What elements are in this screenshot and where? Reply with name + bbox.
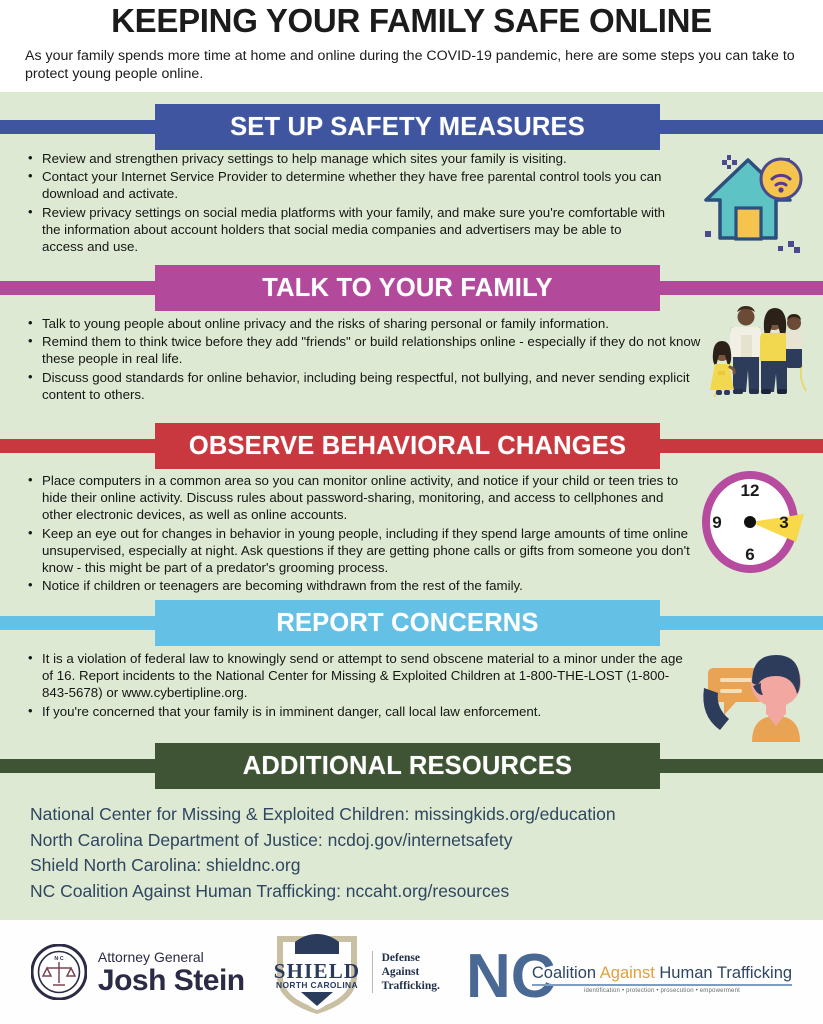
page-title: KEEPING YOUR FAMILY SAFE ONLINE — [0, 2, 823, 40]
family-group-icon — [706, 305, 816, 405]
section-header-report-concerns: REPORT CONCERNS — [0, 600, 823, 646]
resource-link[interactable]: National Center for Missing & Exploited … — [30, 802, 730, 828]
section-header-talk-to-your-family: TALK TO YOUR FAMILY — [0, 265, 823, 311]
shield-tagline-line-3: Trafficking. — [382, 979, 440, 993]
shield-state: NORTH CAROLINA — [276, 980, 358, 990]
shield-tagline-line-2: Against — [382, 965, 440, 979]
band-block-1: SET UP SAFETY MEASURES — [155, 104, 660, 150]
clock-number-12: 12 — [741, 481, 760, 500]
section-title-4: REPORT CONCERNS — [276, 609, 538, 638]
section-title-3: OBSERVE BEHAVIORAL CHANGES — [189, 432, 626, 461]
nc-doj-seal-icon: N·C — [31, 944, 87, 1000]
clock-icon: 12 3 6 9 — [700, 470, 812, 574]
nc-coalition-wordmark: Coalition Against Human Trafficking iden… — [532, 964, 792, 994]
section-header-additional-resources: ADDITIONAL RESOURCES — [0, 743, 823, 789]
clock-number-3: 3 — [779, 513, 788, 532]
person-phone-support-icon — [700, 646, 812, 742]
band-block-2: TALK TO YOUR FAMILY — [155, 265, 660, 311]
nc-word-against: Against — [600, 964, 660, 982]
section-title-5: ADDITIONAL RESOURCES — [243, 752, 572, 781]
page-subtitle: As your family spends more time at home … — [25, 47, 800, 83]
resource-link-list: National Center for Missing & Exploited … — [30, 802, 730, 904]
nc-word-coalition: Coalition — [532, 964, 600, 982]
band-block-4: REPORT CONCERNS — [155, 600, 660, 646]
nc-word-human-trafficking: Human Trafficking — [659, 964, 792, 982]
section-title-2: TALK TO YOUR FAMILY — [262, 274, 552, 303]
attorney-general-logo: N·C Attorney General Josh Stein — [31, 944, 245, 1000]
bullet-list-2: Talk to young people about online privac… — [26, 315, 706, 404]
clock-number-9: 9 — [712, 513, 721, 532]
clock-number-6: 6 — [745, 545, 754, 564]
attorney-general-name: Josh Stein — [98, 965, 245, 996]
bullet-list-3: Place computers in a common area so you … — [26, 472, 696, 595]
shield-nc-logo: SHIELD NORTH CAROLINA Defense Against Tr… — [271, 928, 440, 1016]
list-item: If you're concerned that your family is … — [26, 703, 691, 720]
resource-link[interactable]: Shield North Carolina: shieldnc.org — [30, 853, 730, 879]
list-item: Discuss good standards for online behavi… — [26, 369, 706, 403]
attorney-general-label: Attorney General — [98, 949, 245, 965]
footer-logo-bar: N·C Attorney General Josh Stein SHIELD N… — [0, 920, 823, 1024]
infographic-page: KEEPING YOUR FAMILY SAFE ONLINE As your … — [0, 0, 823, 1024]
band-block-5: ADDITIONAL RESOURCES — [155, 743, 660, 789]
section-title-1: SET UP SAFETY MEASURES — [230, 113, 585, 142]
bullet-list-1: Review and strengthen privacy settings t… — [26, 150, 666, 256]
resource-link[interactable]: North Carolina Department of Justice: nc… — [30, 828, 730, 854]
shield-icon: SHIELD NORTH CAROLINA — [271, 928, 363, 1016]
list-item: Talk to young people about online privac… — [26, 315, 706, 332]
bullet-list-4: It is a violation of federal law to know… — [26, 650, 691, 721]
list-item: Place computers in a common area so you … — [26, 472, 696, 524]
house-wifi-icon — [696, 146, 814, 258]
section-header-observe-behavioral-changes: OBSERVE BEHAVIORAL CHANGES — [0, 423, 823, 469]
shield-tagline-line-1: Defense — [382, 951, 440, 965]
nc-coalition-logo: NC Coalition Against Human Trafficking i… — [466, 941, 792, 1003]
shield-tagline: Defense Against Trafficking. — [372, 951, 440, 993]
nc-coalition-tagline: identification • protection • prosecutio… — [532, 988, 792, 994]
resource-link[interactable]: NC Coalition Against Human Trafficking: … — [30, 879, 730, 905]
list-item: Keep an eye out for changes in behavior … — [26, 525, 696, 577]
list-item: It is a violation of federal law to know… — [26, 650, 691, 702]
band-block-3: OBSERVE BEHAVIORAL CHANGES — [155, 423, 660, 469]
section-header-set-up-safety-measures: SET UP SAFETY MEASURES — [0, 104, 823, 150]
seal-initials: N·C — [54, 956, 63, 962]
list-item: Review and strengthen privacy settings t… — [26, 150, 666, 167]
nc-underline — [532, 984, 792, 986]
list-item: Review privacy settings on social media … — [26, 204, 666, 256]
list-item: Notice if children or teenagers are beco… — [26, 577, 696, 594]
list-item: Remind them to think twice before they a… — [26, 333, 706, 367]
list-item: Contact your Internet Service Provider t… — [26, 168, 666, 202]
